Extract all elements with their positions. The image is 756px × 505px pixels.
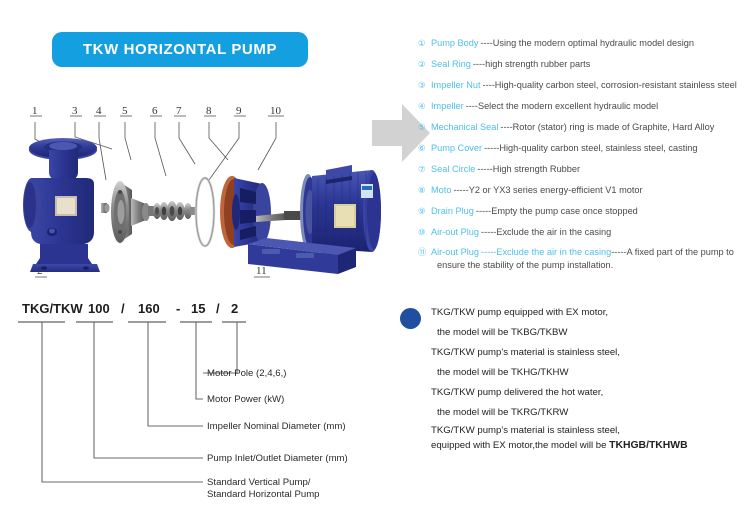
feature-item: ⑤ Mechanical Seal ---- Rotor (stator) ri…	[418, 117, 756, 138]
feature-description: Exclude the air in the casing	[496, 222, 611, 243]
callout-8: 8	[206, 105, 212, 117]
note-last-prefix: equipped with EX motor,the model will be	[431, 440, 609, 451]
callout-4: 4	[96, 105, 102, 117]
feature-name: Moto	[431, 180, 451, 201]
note-line: the model will be TKHG/TKHW	[431, 363, 756, 383]
feature-separator: ----	[500, 117, 512, 138]
feature-item: ⑥ Pump Cover ----- High-quality carbon s…	[418, 138, 756, 159]
model-designation-diagram: TKG/TKW 100 / 160 - 15 / 2 Motor Pole (2…	[0, 295, 395, 500]
feature-item: ⑩ Air-out Plug ----- Exclude the air in …	[418, 222, 756, 243]
feature-item: ② Seal Ring ---- high strength rubber pa…	[418, 54, 756, 75]
feature-name: Air-out Plug	[431, 222, 479, 243]
feature-description: Select the modern excellent hydraulic mo…	[478, 96, 658, 117]
callout-5: 5	[122, 105, 128, 117]
feature-description: high strength rubber parts	[485, 54, 590, 75]
feature-item: ③ Impeller Nut ---- High-quality carbon …	[418, 75, 756, 96]
feature-separator: ----	[473, 54, 485, 75]
model-naming-notes: TKG/TKW pump equipped with EX motor, the…	[400, 303, 756, 453]
feature-separator: ----	[481, 33, 493, 54]
feature-number: ⑤	[418, 117, 431, 138]
model-code-prefix: TKG/TKW	[22, 301, 83, 316]
feature-separator: ----	[483, 75, 495, 96]
feature-item: ④ Impeller ---- Select the modern excell…	[418, 96, 756, 117]
note-line-last-1: TKG/TKW pump's material is stainless ste…	[431, 423, 756, 438]
feature-separator: -----	[484, 138, 499, 159]
label-motor-power: Motor Power (kW)	[207, 394, 284, 405]
feature-number: ④	[418, 96, 431, 117]
feature-name: Impeller Nut	[431, 75, 481, 96]
feature-description: Rotor (stator) ring is made of Graphite,…	[513, 117, 715, 138]
label-standard-pump-line2: Standard Horizontal Pump	[207, 489, 320, 500]
feature-name: Mechanical Seal	[431, 117, 498, 138]
feature-separator: -----	[481, 222, 496, 243]
feature-description-blue: Exclude the air in the casing	[496, 247, 611, 257]
feature-description-tail: -----A fixed part of the pump to	[611, 247, 734, 257]
callout-2: 2	[37, 265, 43, 277]
feature-item-last: ⑪ Air-out Plug-----Exclude the air in th…	[418, 246, 756, 272]
feature-number: ⑥	[418, 138, 431, 159]
feature-name: Impeller	[431, 96, 464, 117]
callout-1: 1	[32, 105, 38, 117]
note-line-last-2: equipped with EX motor,the model will be…	[431, 438, 756, 453]
model-code-inlet: 100	[88, 301, 110, 316]
exploded-pump-diagram: 1 3 4 5 6 7 8 9 10 2 11	[0, 92, 400, 287]
label-motor-pole: Motor Pole (2,4,6,)	[207, 368, 286, 379]
feature-number: ②	[418, 54, 431, 75]
model-code-pole: 2	[231, 301, 238, 316]
feature-name: Pump Cover	[431, 138, 482, 159]
callout-6: 6	[152, 105, 158, 117]
note-line: TKG/TKW pump equipped with EX motor,	[431, 303, 756, 323]
feature-item: ⑨ Drain Plug ----- Empty the pump case o…	[418, 201, 756, 222]
feature-number: ⑩	[418, 222, 431, 243]
label-standard-pump-line1: Standard Vertical Pump/	[207, 477, 311, 488]
model-code-slash-1: /	[121, 301, 125, 316]
feature-description: Using the modern optimal hydraulic model…	[493, 33, 694, 54]
feature-item: ⑧ Moto ----- Y2 or YX3 series energy-eff…	[418, 180, 756, 201]
feature-description: Empty the pump case once stopped	[491, 201, 638, 222]
feature-description: High strength Rubber	[493, 159, 580, 180]
note-last-model: TKHGB/TKHWB	[609, 440, 688, 451]
feature-name: Seal Ring	[431, 54, 471, 75]
feature-number: ⑦	[418, 159, 431, 180]
model-code-dash: -	[176, 301, 180, 316]
callout-3: 3	[72, 105, 78, 117]
feature-separator: -----	[477, 159, 492, 180]
feature-item: ⑦ Seal Circle ----- High strength Rubber	[418, 159, 756, 180]
feature-number: ⑪	[418, 246, 431, 259]
note-line: TKG/TKW pump delivered the hot water,	[431, 383, 756, 403]
feature-number: ①	[418, 33, 431, 54]
page-title: TKW HORIZONTAL PUMP	[83, 41, 277, 58]
label-impeller-diameter: Impeller Nominal Diameter (mm)	[207, 421, 346, 432]
note-line: the model will be TKBG/TKBW	[431, 323, 756, 343]
note-line: the model will be TKRG/TKRW	[431, 403, 756, 423]
feature-separator: -----	[481, 247, 496, 257]
bullet-dot-icon	[400, 308, 421, 329]
model-code-impeller: 160	[138, 301, 160, 316]
feature-separator: -----	[453, 180, 468, 201]
note-line: TKG/TKW pump's material is stainless ste…	[431, 343, 756, 363]
model-code-power: 15	[191, 301, 205, 316]
feature-separator: ----	[466, 96, 478, 117]
feature-list: ① Pump Body ---- Using the modern optima…	[418, 33, 756, 272]
feature-number: ③	[418, 75, 431, 96]
feature-name: Seal Circle	[431, 159, 475, 180]
feature-name: Pump Body	[431, 33, 479, 54]
callout-7: 7	[176, 105, 182, 117]
feature-item: ① Pump Body ---- Using the modern optima…	[418, 33, 756, 54]
feature-description: Y2 or YX3 series energy-efficient V1 mot…	[469, 180, 643, 201]
feature-name: Drain Plug	[431, 201, 474, 222]
feature-description: High-quality carbon steel, stainless ste…	[499, 138, 697, 159]
page-title-banner: TKW HORIZONTAL PUMP	[52, 32, 308, 67]
callout-11: 11	[256, 265, 267, 277]
callout-10: 10	[270, 105, 282, 117]
model-code-slash-2: /	[216, 301, 220, 316]
feature-number: ⑨	[418, 201, 431, 222]
label-pump-inlet-outlet: Pump Inlet/Outlet Diameter (mm)	[207, 453, 348, 464]
callout-9: 9	[236, 105, 242, 117]
feature-description-line2: ensure the stability of the pump install…	[431, 259, 734, 272]
feature-separator: -----	[476, 201, 491, 222]
feature-description: High-quality carbon steel, corrosion-res…	[495, 75, 737, 96]
feature-number: ⑧	[418, 180, 431, 201]
feature-name: Air-out Plug	[431, 247, 479, 257]
